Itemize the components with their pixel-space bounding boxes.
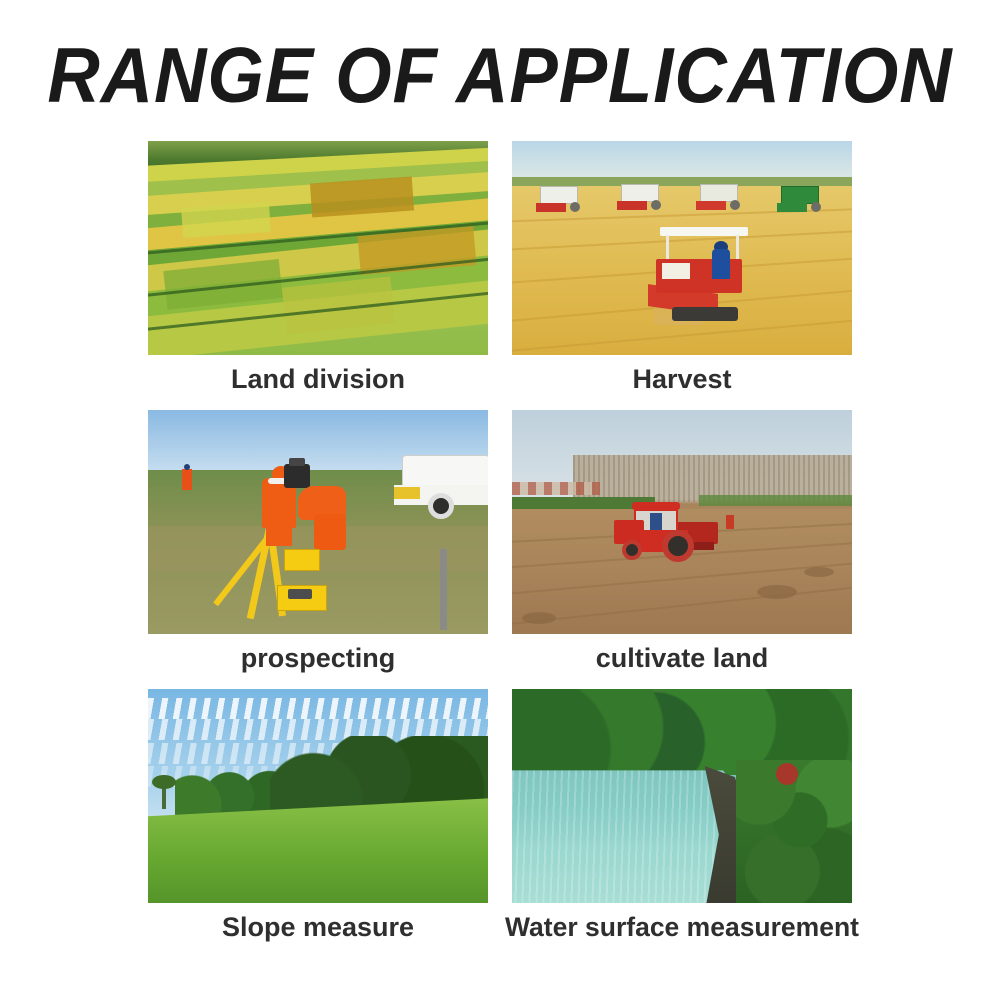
white-truck <box>394 455 488 517</box>
gallery-cell-harvest[interactable]: Harvest <box>512 141 852 396</box>
gallery-cell-slope-measure[interactable]: Slope measure <box>148 689 488 944</box>
sky <box>512 141 852 182</box>
photo-caption: Slope measure <box>222 910 414 944</box>
soil-clod <box>804 567 834 577</box>
combine-harvester-green <box>777 186 825 212</box>
application-gallery: Land division <box>148 141 852 944</box>
soil-clod <box>757 585 797 599</box>
equipment-case <box>284 549 320 571</box>
red-tractor <box>614 502 710 564</box>
palm-tree <box>162 783 166 809</box>
gallery-row: Land division <box>148 141 852 396</box>
combine-harvester <box>617 184 665 210</box>
distant-worker <box>182 464 192 490</box>
photo-caption: Water surface measurement <box>505 910 859 944</box>
distant-worker <box>726 515 734 529</box>
red-foliage <box>770 757 804 791</box>
photo-cultivate-land <box>512 410 852 634</box>
photo-caption: Land division <box>231 362 405 396</box>
photo-slope-measure <box>148 689 488 903</box>
combine-harvester <box>536 186 584 212</box>
equipment-case <box>277 585 327 611</box>
survey-instrument <box>284 464 310 488</box>
gallery-row: prospecting <box>148 410 852 675</box>
combine-harvester <box>696 184 744 210</box>
gallery-cell-land-division[interactable]: Land division <box>148 141 488 396</box>
survey-post <box>440 549 447 630</box>
photo-caption: cultivate land <box>596 641 769 675</box>
field-patch <box>181 202 271 238</box>
photo-water-surface-measurement <box>512 689 852 903</box>
gallery-row: Slope measure Water surface measurement <box>148 689 852 944</box>
photo-caption: prospecting <box>241 641 396 675</box>
gallery-cell-prospecting[interactable]: prospecting <box>148 410 488 675</box>
distant-field <box>512 177 852 186</box>
photo-caption: Harvest <box>632 362 731 396</box>
gallery-cell-cultivate-land[interactable]: cultivate land <box>512 410 852 675</box>
surveyor-bending <box>298 486 350 550</box>
combine-harvester-foreground <box>648 227 770 325</box>
gallery-cell-water-surface-measurement[interactable]: Water surface measurement <box>512 689 852 944</box>
page-title: RANGE OF APPLICATION <box>35 36 965 114</box>
green-crop-strip <box>699 495 852 506</box>
field-patch <box>310 176 414 217</box>
cloud-band <box>148 698 488 719</box>
photo-land-division <box>148 141 488 355</box>
distant-village <box>512 482 600 495</box>
photo-harvest <box>512 141 852 355</box>
soil-clod <box>522 612 556 624</box>
photo-prospecting <box>148 410 488 634</box>
